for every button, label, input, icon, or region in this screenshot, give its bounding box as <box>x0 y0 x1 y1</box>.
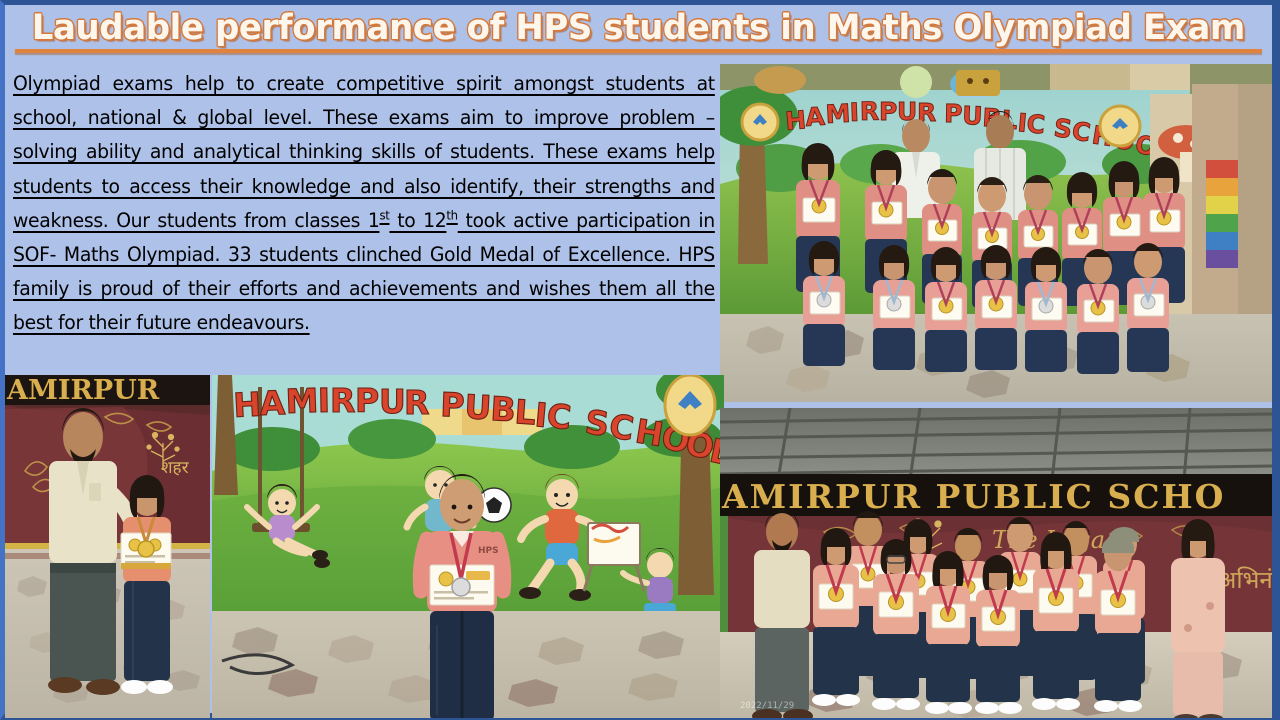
photo-award-boy: H A M I R P U R P U B L I C S C H O O L <box>212 375 724 718</box>
article-part-2: to 12 <box>389 209 446 232</box>
title-wrapper: Laudable performance of HPS students in … <box>13 5 1264 48</box>
title-bar: Laudable performance of HPS students in … <box>5 5 1272 59</box>
svg-text:P: P <box>879 97 897 126</box>
banner-text-girl: AMIRPUR <box>6 375 160 406</box>
svg-text:I: I <box>317 381 330 420</box>
page-title: Laudable performance of HPS students in … <box>32 8 1245 48</box>
svg-text:U: U <box>379 382 406 421</box>
svg-text:M: M <box>285 381 319 421</box>
svg-text:A: A <box>804 102 826 132</box>
title-underline <box>15 49 1262 53</box>
svg-text:I: I <box>849 98 859 127</box>
photo-group-senior-image: AMIRPUR PUBLIC SCHO The Legacy अभिनं <box>720 408 1272 718</box>
svg-text:शहर: शहर <box>161 458 190 478</box>
svg-text:U: U <box>962 101 983 131</box>
photo-group-senior: AMIRPUR PUBLIC SCHO The Legacy अभिनं <box>720 408 1272 718</box>
photo-award-girl: AMIRPUR शहर <box>5 375 210 718</box>
svg-text:B: B <box>490 389 517 429</box>
svg-text:P: P <box>355 381 379 420</box>
svg-text:अभिनं: अभिनं <box>1218 566 1272 594</box>
banner-text-senior: AMIRPUR PUBLIC SCHO <box>721 477 1225 516</box>
svg-text:R: R <box>860 97 880 126</box>
svg-text:H: H <box>232 385 262 425</box>
svg-text:A: A <box>259 383 286 423</box>
photo-group-primary: H A M I R P U R P U B L I C S C H O O L <box>720 64 1272 402</box>
svg-text:HPS: HPS <box>478 546 499 556</box>
svg-text:C: C <box>1025 109 1046 139</box>
svg-text:M: M <box>825 99 851 129</box>
article-text-block: Olympiad exams help to create competitiv… <box>5 63 721 369</box>
photo-group-primary-image: H A M I R P U R P U B L I C S C H O O L <box>720 64 1272 402</box>
article-body: Olympiad exams help to create competitiv… <box>13 67 715 341</box>
svg-text:U: U <box>464 387 493 427</box>
svg-text:P: P <box>944 99 963 128</box>
ordinal-suffix-first: st <box>379 208 389 222</box>
svg-text:R: R <box>330 381 355 420</box>
svg-text:R: R <box>404 383 429 422</box>
photo-award-girl-image: AMIRPUR शहर <box>5 375 210 718</box>
news-slide: { "slide": { "title": "Laudable performa… <box>0 0 1280 720</box>
svg-text:H: H <box>784 105 807 136</box>
photo-award-boy-image: H A M I R P U R P U B L I C S C H O O L <box>212 375 724 718</box>
photo-timestamp-watermark: 2022/11/29 <box>740 701 794 711</box>
svg-text:P: P <box>440 385 466 425</box>
svg-text:C: C <box>545 396 573 437</box>
ordinal-suffix-twelfth: th <box>446 208 457 222</box>
